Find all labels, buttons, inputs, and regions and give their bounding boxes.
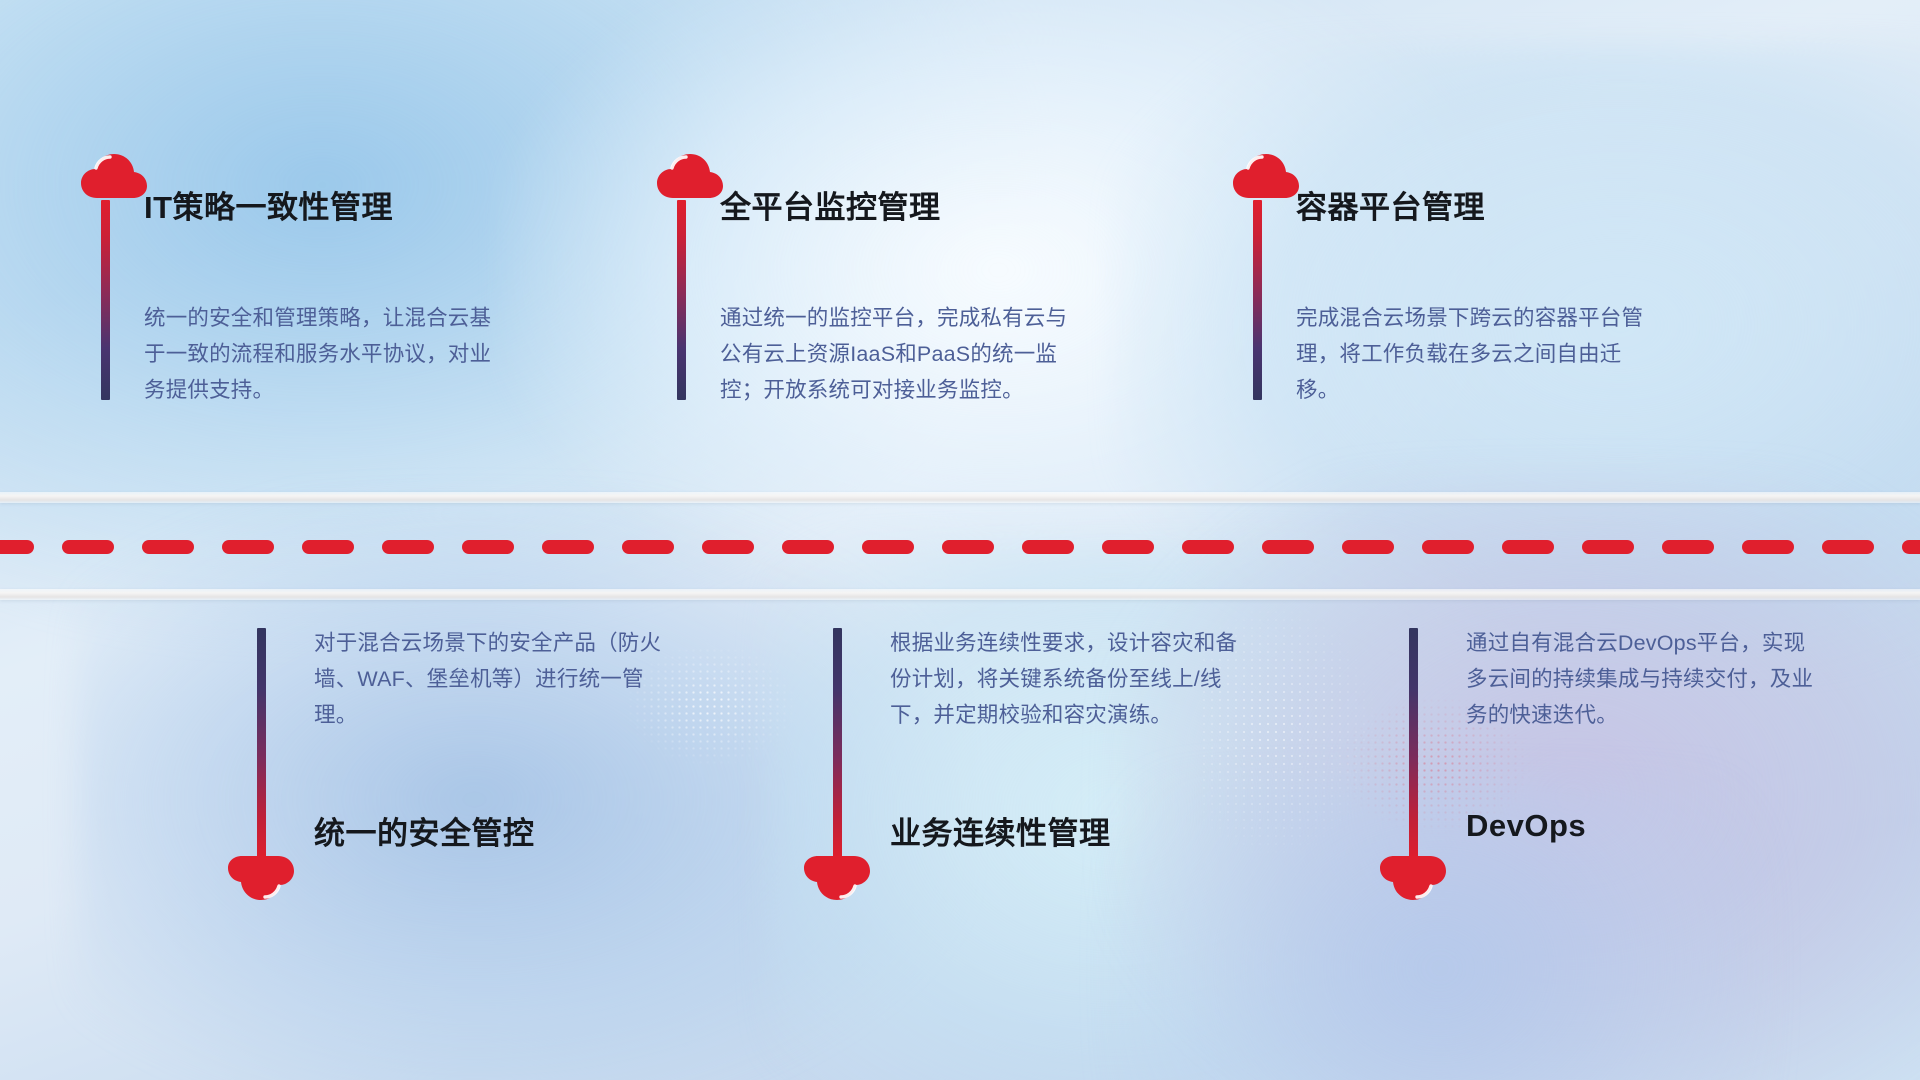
card-body-text: 根据业务连续性要求，设计容灾和备份计划，将关键系统备份至线上/线下，并定期校验和… [890,625,1242,733]
road-dash-segment [1582,540,1634,554]
road-dash-segment [222,540,274,554]
cloud-icon [227,852,295,902]
card-body-text: 通过自有混合云DevOps平台，实现多云间的持续集成与持续交付，及业务的快速迭代… [1466,625,1818,733]
road-dash-segment [1662,540,1714,554]
road-dash-segment [382,540,434,554]
card-body-text: 完成混合云场景下跨云的容器平台管理，将工作负载在多云之间自由迁移。 [1296,300,1648,408]
infographic-canvas: IT策略一致性管理 统一的安全和管理策略，让混合云基于一致的流程和服务水平协议，… [0,0,1920,1080]
road-dash-segment [462,540,514,554]
cloud-icon [1379,852,1447,902]
pin-bar [257,628,266,860]
road-dash-segment [1502,540,1554,554]
road-dash-segment [542,540,594,554]
road-dash-segment [1102,540,1154,554]
cloud-icon [1232,152,1300,202]
cloud-icon [656,152,724,202]
pin-bar [1409,628,1418,860]
road-dash-segment [1342,540,1394,554]
pin-bar [1253,200,1262,400]
road-dash-segment [1902,540,1920,554]
road-dash-segment [302,540,354,554]
road-dash-segment [1022,540,1074,554]
card-body-text: 对于混合云场景下的安全产品（防火墙、WAF、堡垒机等）进行统一管理。 [314,625,666,733]
cloud-icon [803,852,871,902]
pin-bar [101,200,110,400]
road-dash-segment [1262,540,1314,554]
highway-divider [0,492,1920,600]
card-heading: 容器平台管理 [1296,182,1485,227]
road-dash-segment [0,540,34,554]
pin-bar [833,628,842,860]
card-heading: 统一的安全管控 [314,808,535,853]
road-stripe-bottom [0,589,1920,600]
road-dash-segment [1822,540,1874,554]
road-dash-segment [702,540,754,554]
pin-bar [677,200,686,400]
card-heading: IT策略一致性管理 [144,182,393,227]
card-heading: DevOps [1466,808,1586,844]
road-dash-segment [942,540,994,554]
card-heading: 全平台监控管理 [720,182,941,227]
road-dash-segment [862,540,914,554]
road-center-dashed-line [0,540,1920,554]
card-body-text: 通过统一的监控平台，完成私有云与公有云上资源IaaS和PaaS的统一监控；开放系… [720,300,1072,408]
road-dash-segment [62,540,114,554]
road-dash-segment [622,540,674,554]
road-stripe-top [0,492,1920,503]
road-dash-segment [1182,540,1234,554]
cloud-icon [80,152,148,202]
road-dash-segment [782,540,834,554]
road-dash-segment [1742,540,1794,554]
road-dash-segment [1422,540,1474,554]
card-heading: 业务连续性管理 [890,808,1111,853]
road-dash-segment [142,540,194,554]
card-body-text: 统一的安全和管理策略，让混合云基于一致的流程和服务水平协议，对业务提供支持。 [144,300,496,408]
